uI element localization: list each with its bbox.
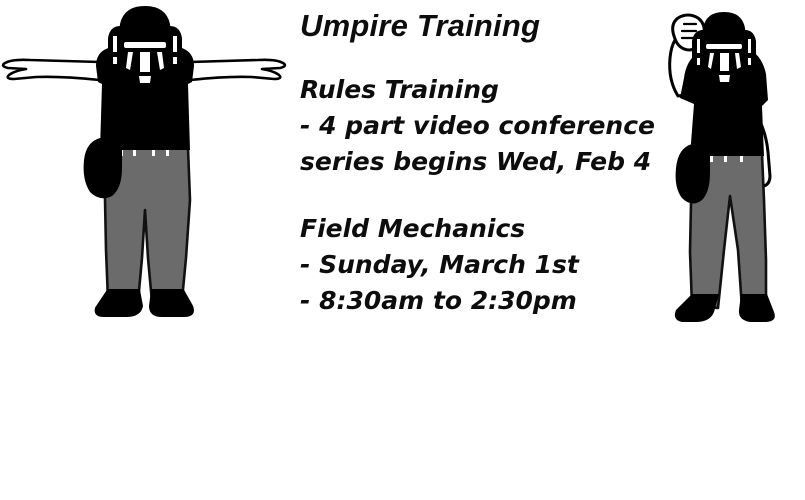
umpire-out-signal-illustration: [640, 0, 805, 335]
text-content-block: Umpire Training Rules Training - 4 part …: [300, 6, 650, 319]
right-arm-extended: [190, 60, 285, 80]
section-heading: Field Mechanics: [300, 211, 650, 247]
shoes-group: [96, 290, 193, 316]
umpire-safe-signal-svg: [0, 0, 290, 330]
left-shoe: [96, 290, 142, 316]
section-line: series begins Wed, Feb 4: [300, 144, 650, 180]
right-shoe: [150, 290, 193, 316]
right-shoe: [739, 294, 775, 322]
section-field-mechanics: Field Mechanics - Sunday, March 1st - 8:…: [300, 211, 650, 319]
left-shoe: [675, 294, 719, 322]
umpire-safe-signal-illustration: [0, 0, 290, 330]
slide-canvas: Umpire Training Rules Training - 4 part …: [0, 0, 805, 500]
section-line: - 8:30am to 2:30pm: [300, 283, 650, 319]
shoes-group: [675, 294, 775, 322]
section-line: - Sunday, March 1st: [300, 247, 650, 283]
page-title: Umpire Training: [300, 6, 650, 46]
section-line: - 4 part video conference: [300, 108, 650, 144]
umpire-out-signal-svg: [640, 0, 805, 335]
left-arm-extended: [3, 60, 100, 80]
section-rules-training: Rules Training - 4 part video conference…: [300, 72, 650, 180]
section-heading: Rules Training: [300, 72, 650, 108]
